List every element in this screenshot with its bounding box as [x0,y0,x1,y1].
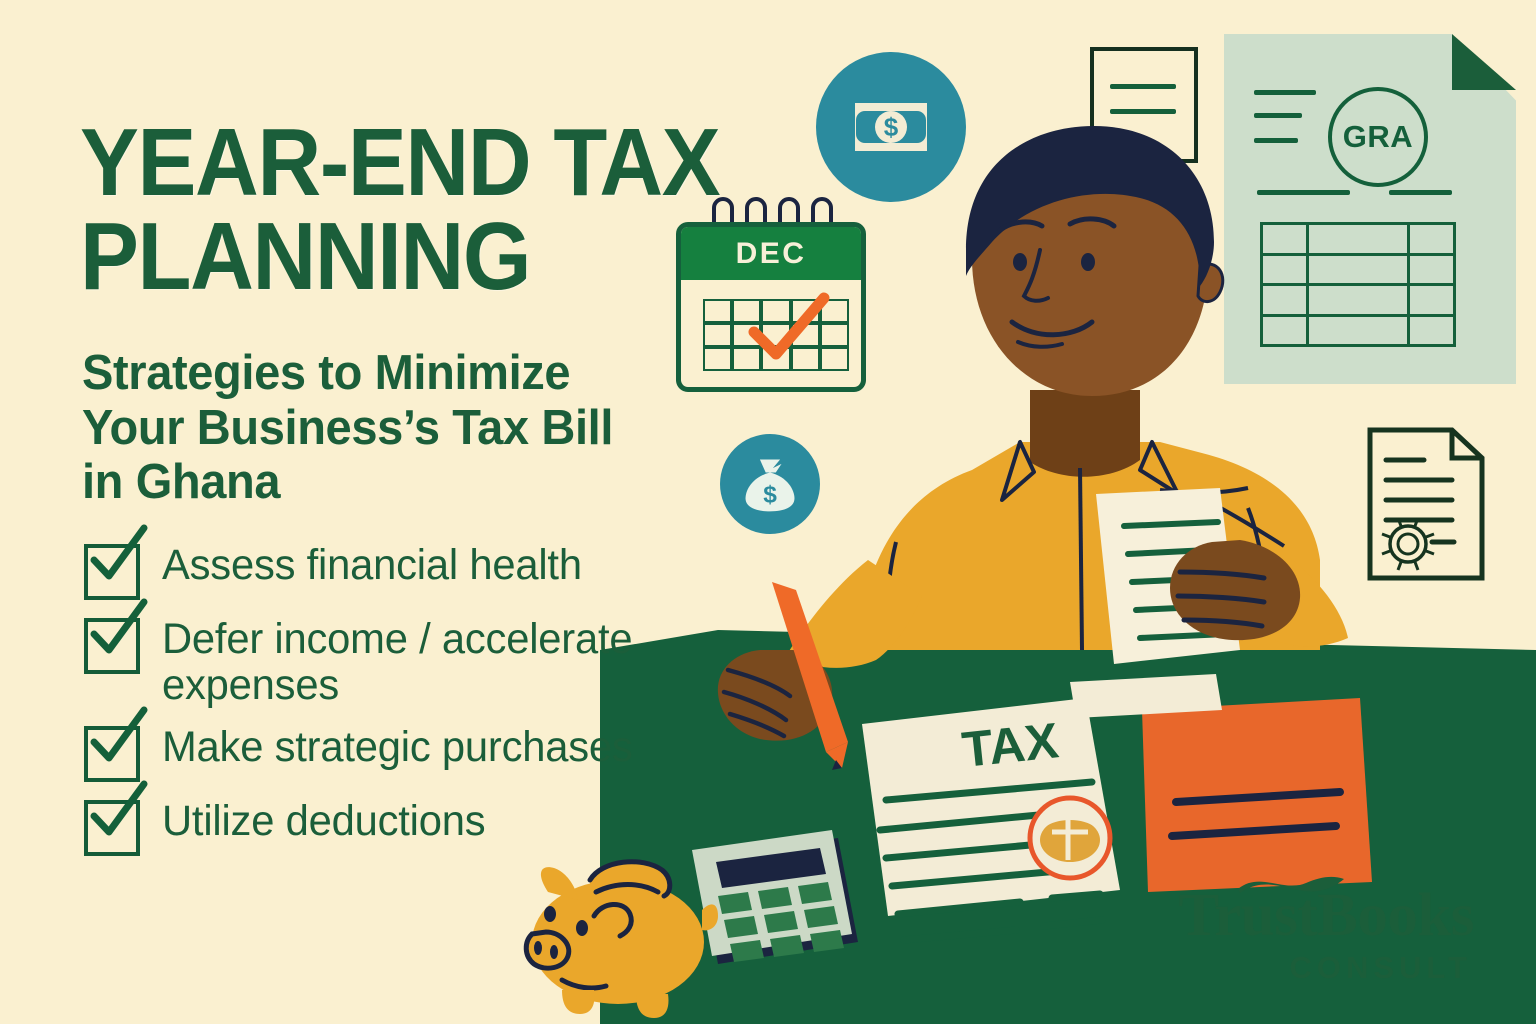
calculator-buttons [718,882,844,962]
page-title-line-2: PLANNING [80,210,798,304]
piggy-ear [541,867,578,900]
brand-logo: TrustBooks CONSULT [1178,885,1474,986]
piggy-leg [562,990,594,1014]
note-card-line [1110,84,1176,89]
page-subtitle-line-3: in Ghana [82,455,696,510]
infographic-poster: GRA [0,0,1536,1024]
piggy-nostril [550,945,558,959]
strategy-checklist: Assess financial health Defer income / a… [84,540,744,870]
piggy-eye [576,920,588,936]
page-subtitle: Strategies to Minimize Your Business’s T… [82,346,696,511]
brand-tagline: CONSULT [1178,950,1474,986]
checklist-item: Assess financial health [84,540,744,600]
person-eye [1081,253,1095,271]
brand-swoosh-icon [1236,871,1346,897]
checklist-item-label: Assess financial health [162,540,582,588]
checkbox-checked-icon[interactable] [84,800,140,856]
person-neck [1030,390,1140,477]
checklist-item: Utilize deductions [84,796,744,856]
tax-document-seal [1030,798,1110,878]
gra-form-fold-corner [1452,34,1516,90]
person-eye [1013,253,1027,271]
piggy-eye [544,906,556,922]
person-shirt-placket [1080,468,1082,650]
brand-wordmark-row: TrustBooks [1178,885,1474,946]
piggy-leg [636,994,668,1018]
piggy-tail [702,904,718,930]
checklist-item-label: Utilize deductions [162,796,485,844]
checklist-item-label: Defer income / accelerate expenses [162,614,727,708]
checklist-item: Make strategic purchases [84,722,744,782]
page-title: YEAR-END TAX PLANNING [80,116,798,304]
page-title-line-1: YEAR-END TAX [80,109,719,216]
orange-folder-icon [1142,698,1372,892]
tax-document-title: TAX [959,712,1061,778]
checkbox-checked-icon[interactable] [84,618,140,674]
checklist-item: Defer income / accelerate expenses [84,614,744,708]
page-subtitle-line-2: Your Business’s Tax Bill [82,401,696,456]
checklist-item-label: Make strategic purchases [162,722,633,770]
checkbox-checked-icon[interactable] [84,544,140,600]
page-subtitle-line-1: Strategies to Minimize [82,346,696,401]
checkbox-checked-icon[interactable] [84,726,140,782]
piggy-nostril [534,941,542,955]
piggy-snout [526,932,569,968]
